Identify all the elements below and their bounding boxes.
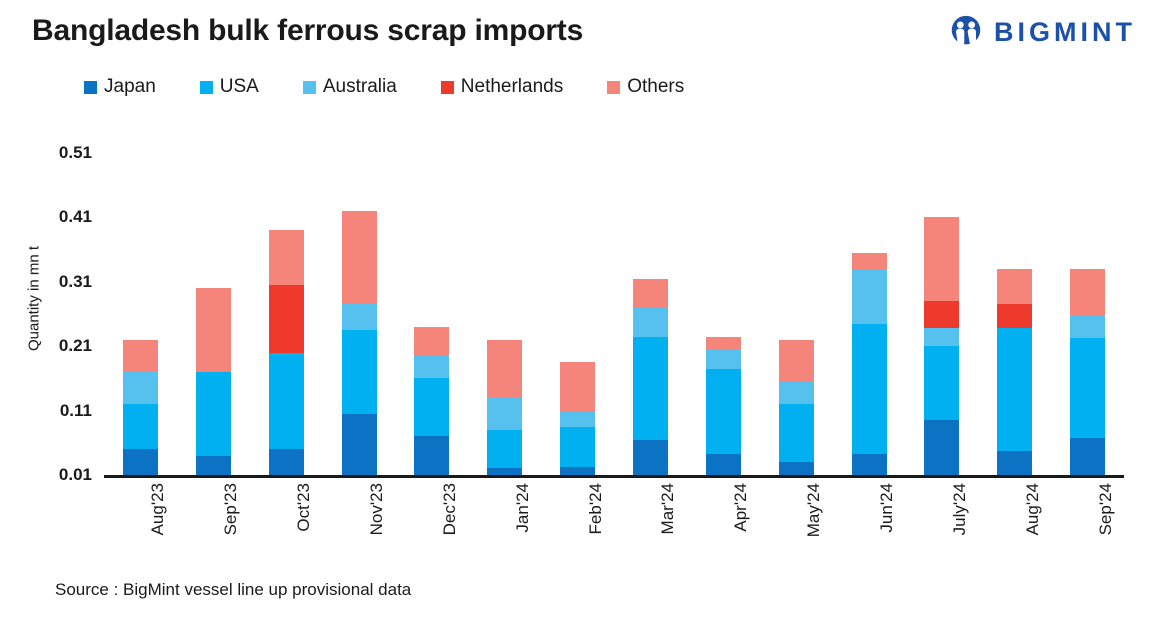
bar-segment-usa	[997, 328, 1032, 451]
bar-segment-japan	[997, 451, 1032, 475]
bar-segment-others	[633, 279, 668, 308]
bar-stack[interactable]	[487, 340, 522, 475]
chart-page: Bangladesh bulk ferrous scrap imports BI…	[0, 0, 1152, 626]
bar-segment-australia	[924, 328, 959, 346]
bar-stack[interactable]	[924, 217, 959, 475]
bar-stack[interactable]	[342, 211, 377, 475]
y-tick-label: 0.01	[24, 465, 92, 485]
bar-segment-others	[706, 337, 741, 350]
bar-segment-others	[997, 269, 1032, 304]
y-tick-label: 0.51	[24, 143, 92, 163]
bar-stack[interactable]	[123, 340, 158, 475]
bar-segment-usa	[342, 330, 377, 414]
bar-segment-usa	[414, 378, 449, 436]
bar-segment-australia	[633, 308, 668, 337]
bar-segment-australia	[852, 269, 887, 324]
bar-segment-japan	[560, 467, 595, 475]
x-tick-label: Apr'24	[731, 483, 751, 532]
bar-segment-usa	[196, 372, 231, 456]
bar-segment-netherlands	[924, 301, 959, 329]
x-tick-label: Sep'23	[221, 483, 241, 535]
bar-segment-others	[123, 340, 158, 372]
bar-segment-others	[852, 253, 887, 269]
bar-segment-japan	[1070, 438, 1105, 475]
x-tick-label: Nov'23	[367, 483, 387, 535]
x-tick-label: Feb'24	[586, 483, 606, 534]
x-tick-label: Sep'24	[1096, 483, 1116, 535]
bar-segment-usa	[1070, 338, 1105, 438]
bar-segment-others	[487, 340, 522, 398]
x-tick-label: Dec'23	[440, 483, 460, 535]
bar-segment-usa	[560, 427, 595, 468]
source-note: Source : BigMint vessel line up provisio…	[55, 580, 411, 600]
bar-segment-others	[269, 230, 304, 285]
y-tick-label: 0.21	[24, 336, 92, 356]
bar-segment-japan	[633, 440, 668, 475]
bar-segment-others	[196, 288, 231, 372]
y-tick-label: 0.31	[24, 272, 92, 292]
bar-stack[interactable]	[997, 269, 1032, 475]
bar-stack[interactable]	[560, 362, 595, 475]
bar-stack[interactable]	[1070, 269, 1105, 475]
bar-segment-others	[414, 327, 449, 356]
bar-stack[interactable]	[196, 288, 231, 475]
bar-segment-japan	[269, 449, 304, 475]
bar-segment-netherlands	[997, 304, 1032, 328]
bar-stack[interactable]	[852, 253, 887, 475]
bar-segment-australia	[123, 372, 158, 404]
x-tick-label: July'24	[950, 483, 970, 535]
bar-segment-others	[1070, 269, 1105, 316]
plot-area: Quantity in mn t 0.010.110.210.310.410.5…	[0, 0, 1152, 626]
bar-segment-japan	[123, 449, 158, 475]
bar-segment-netherlands	[269, 285, 304, 353]
bar-segment-australia	[779, 382, 814, 405]
bar-segment-australia	[342, 304, 377, 330]
bar-segment-australia	[706, 349, 741, 368]
bar-segment-japan	[706, 454, 741, 475]
x-tick-label: Aug'24	[1023, 483, 1043, 535]
bar-segment-usa	[633, 337, 668, 440]
bar-stack[interactable]	[269, 230, 304, 475]
bar-segment-japan	[487, 468, 522, 475]
bar-stack[interactable]	[779, 340, 814, 475]
bar-segment-usa	[269, 353, 304, 450]
bar-segment-usa	[123, 404, 158, 449]
bar-segment-australia	[1070, 316, 1105, 339]
bar-segment-usa	[924, 346, 959, 420]
bar-segment-australia	[414, 356, 449, 379]
x-tick-label: Aug'23	[148, 483, 168, 535]
bar-segment-japan	[414, 436, 449, 475]
bar-segment-japan	[196, 456, 231, 475]
bar-segment-usa	[779, 404, 814, 462]
x-tick-label: Jun'24	[877, 483, 897, 533]
bar-segment-others	[779, 340, 814, 382]
bar-segment-japan	[924, 420, 959, 475]
x-tick-label: Mar'24	[658, 483, 678, 534]
bar-segment-japan	[779, 462, 814, 475]
bar-segment-usa	[487, 430, 522, 468]
bar-segment-australia	[560, 411, 595, 427]
bar-segment-others	[560, 362, 595, 410]
y-tick-label: 0.11	[24, 401, 92, 421]
x-tick-label: May'24	[804, 483, 824, 537]
bar-segment-japan	[852, 454, 887, 475]
bar-segment-others	[924, 217, 959, 300]
bar-segment-others	[342, 211, 377, 304]
x-axis-line	[104, 475, 1124, 478]
x-tick-label: Oct'23	[294, 483, 314, 532]
y-tick-label: 0.41	[24, 207, 92, 227]
bar-segment-australia	[487, 398, 522, 430]
bar-stack[interactable]	[414, 327, 449, 475]
bar-segment-japan	[342, 414, 377, 475]
bar-stack[interactable]	[633, 279, 668, 475]
bar-segment-usa	[706, 369, 741, 455]
x-tick-label: Jan'24	[513, 483, 533, 533]
bar-segment-usa	[852, 324, 887, 455]
bar-stack[interactable]	[706, 337, 741, 475]
